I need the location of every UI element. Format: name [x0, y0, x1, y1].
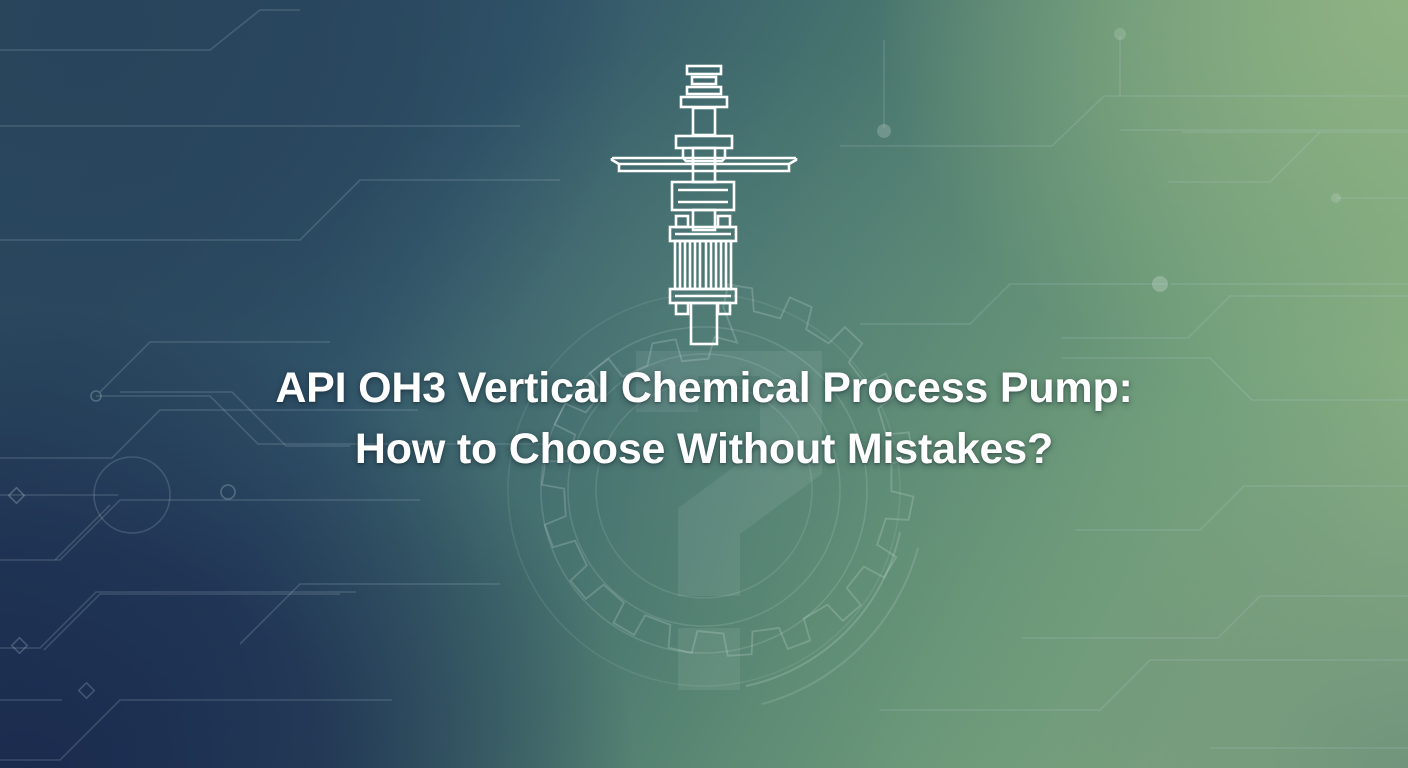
title-line-2: How to Choose Without Mistakes? — [0, 419, 1408, 480]
title-line-1: API OH3 Vertical Chemical Process Pump: — [0, 358, 1408, 419]
hero-banner: API OH3 Vertical Chemical Process Pump: … — [0, 0, 1408, 768]
banner-title: API OH3 Vertical Chemical Process Pump: … — [0, 358, 1408, 480]
